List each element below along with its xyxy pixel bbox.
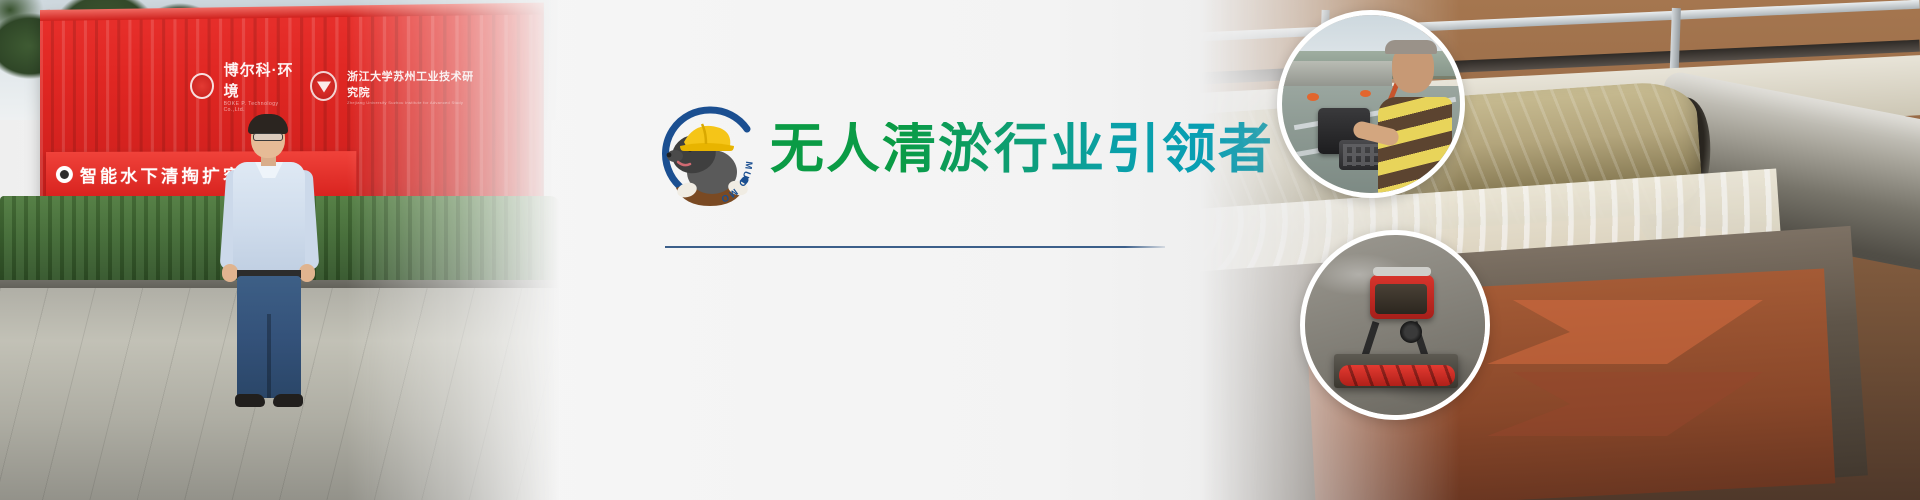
container-branding-row: 博尔科·环境 BOKE P. Technology Co.,Ltd. 浙江大学苏… bbox=[190, 62, 480, 110]
headline-divider bbox=[665, 246, 1165, 248]
mud-mole-logo-icon: MUD MOLE bbox=[650, 102, 770, 214]
person-hair bbox=[248, 114, 288, 134]
robot-body-interior bbox=[1375, 284, 1427, 314]
container-brand-cn: 博尔科·环境 bbox=[224, 59, 300, 101]
pool-float-2 bbox=[1360, 90, 1371, 97]
company-badge-icon bbox=[190, 73, 214, 99]
person-left-hand bbox=[222, 264, 238, 282]
person-right-shoe bbox=[273, 394, 303, 407]
center-content-block: MUD MOLE 无人清淤行业引领者 bbox=[660, 0, 1180, 500]
operator-console-photo bbox=[1277, 10, 1465, 198]
person-leg-split bbox=[267, 314, 271, 398]
university-seal-icon bbox=[310, 71, 337, 101]
eyeglasses-icon bbox=[253, 133, 283, 141]
dredging-robot-photo bbox=[1300, 230, 1490, 420]
person-shirt bbox=[233, 162, 305, 274]
left-container-photo: 博尔科·环境 BOKE P. Technology Co.,Ltd. 浙江大学苏… bbox=[0, 0, 560, 500]
megaphone-icon bbox=[56, 165, 73, 182]
operator-cap bbox=[1385, 40, 1437, 54]
person-figure bbox=[215, 118, 323, 418]
container-partner-cn: 浙江大学苏州工业技术研究院 bbox=[347, 68, 480, 100]
container-partner-en: Zhejiang University Suzhou Institute for… bbox=[347, 100, 480, 105]
mud-mole-logo: MUD MOLE bbox=[650, 102, 770, 214]
person-right-hand bbox=[299, 264, 315, 282]
container-brand-en: BOKE P. Technology Co.,Ltd. bbox=[224, 101, 300, 113]
person-left-shoe bbox=[235, 394, 265, 407]
company-hero-banner: 博尔科·环境 BOKE P. Technology Co.,Ltd. 浙江大学苏… bbox=[0, 0, 1920, 500]
auger-screw bbox=[1339, 365, 1455, 386]
headline-text: 无人清淤行业引领者 bbox=[770, 122, 1274, 176]
robot-top-frame bbox=[1373, 267, 1431, 276]
operator-body bbox=[1378, 97, 1452, 198]
mud-surface bbox=[1305, 235, 1485, 415]
